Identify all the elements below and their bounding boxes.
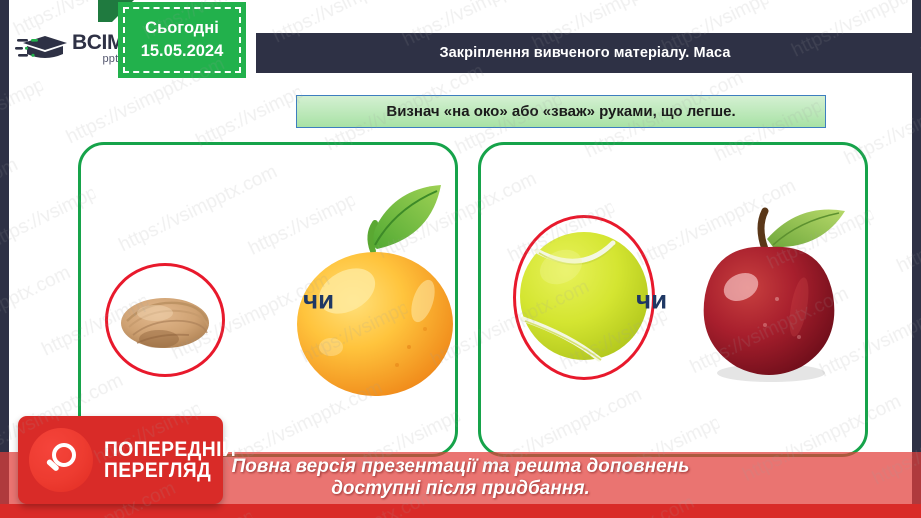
page-title: Закріплення вивченого матеріалу. Маса (439, 45, 730, 61)
footer-line-2: доступні після придбання. (331, 478, 590, 500)
conjunction-left: чи (303, 284, 334, 315)
comparison-panel-right[interactable]: чи (478, 142, 868, 457)
highlight-circle-walnut (105, 263, 225, 377)
magnifier-icon (29, 428, 93, 492)
preview-badge[interactable]: ПОПЕРЕДНІЙ ПЕРЕГЛЯД (18, 416, 223, 504)
instruction-banner: Визнач «на око» або «зваж» руками, що ле… (296, 95, 826, 128)
slide-canvas: Закріплення вивченого матеріалу. Маса BC… (0, 0, 921, 518)
comparison-panel-left-inner: чи (81, 145, 455, 454)
graduation-cap-icon (15, 28, 71, 68)
conjunction-right: чи (636, 284, 667, 315)
left-edge-strip (0, 0, 9, 518)
footer-line-1: Повна версія презентації та решта доповн… (232, 456, 690, 478)
right-edge-strip (912, 0, 921, 518)
preview-badge-labels: ПОПЕРЕДНІЙ ПЕРЕГЛЯД (104, 439, 248, 482)
instruction-text: Визнач «на око» або «зваж» руками, що ле… (386, 103, 735, 120)
apple-image (679, 187, 859, 387)
comparison-panel-right-inner: чи (481, 145, 865, 454)
header-bar: Закріплення вивченого матеріалу. Маса (256, 33, 914, 73)
today-date-badge: Сьогодні 15.05.2024 (118, 2, 246, 78)
logo-name: BCIM (72, 32, 124, 53)
today-date: 15.05.2024 (141, 42, 224, 61)
logo-text: BCIM pptx (72, 32, 124, 65)
footer-bottom-strip (0, 504, 921, 518)
highlight-circle-tennis-ball (513, 215, 655, 380)
preview-line-2: ПЕРЕГЛЯД (104, 460, 236, 481)
preview-line-1: ПОПЕРЕДНІЙ (104, 439, 236, 460)
comparison-panel-left[interactable]: чи (78, 142, 458, 457)
logo-subtitle: pptx (72, 54, 124, 65)
today-label: Сьогодні (145, 19, 219, 38)
